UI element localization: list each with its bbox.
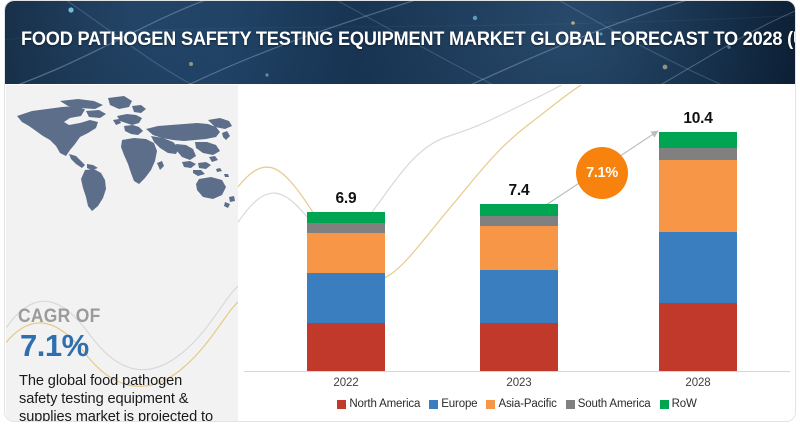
world-map-svg bbox=[10, 94, 236, 214]
legend-label-north-america: North America bbox=[349, 398, 420, 410]
bar-2023[interactable] bbox=[480, 204, 558, 371]
bar-total-2023: 7.4 bbox=[480, 182, 558, 200]
legend-label-asia-pacific: Asia-Pacific bbox=[498, 398, 556, 410]
x-tick-2023: 2023 bbox=[474, 377, 564, 389]
segment-asia-pacific-2028 bbox=[659, 160, 737, 232]
segment-row-2028 bbox=[659, 132, 737, 148]
legend-item-north-america[interactable]: North America bbox=[337, 398, 420, 410]
segment-europe-2028 bbox=[659, 232, 737, 303]
world-map-icon bbox=[10, 94, 236, 214]
bar-total-2022: 6.9 bbox=[307, 190, 385, 208]
legend-swatch-row bbox=[660, 400, 669, 409]
segment-europe-2023 bbox=[480, 270, 558, 323]
bar-total-2028: 10.4 bbox=[659, 110, 737, 128]
segment-europe-2022 bbox=[307, 273, 385, 323]
legend-swatch-south-america bbox=[566, 400, 575, 409]
legend-label-south-america: South America bbox=[578, 398, 651, 410]
infographic-root: FOOD PATHOGEN SAFETY TESTING EQUIPMENT M… bbox=[0, 0, 800, 426]
segment-south-america-2023 bbox=[480, 216, 558, 226]
segment-asia-pacific-2023 bbox=[480, 226, 558, 270]
legend-swatch-asia-pacific bbox=[486, 400, 495, 409]
segment-north-america-2028 bbox=[659, 303, 737, 371]
header-banner: FOOD PATHOGEN SAFETY TESTING EQUIPMENT M… bbox=[5, 1, 796, 84]
segment-asia-pacific-2022 bbox=[307, 233, 385, 273]
summary-sidebar: CAGR OF 7.1% The global food pathogen sa… bbox=[6, 85, 238, 422]
segment-south-america-2028 bbox=[659, 148, 737, 160]
segment-north-america-2023 bbox=[480, 323, 558, 371]
segment-row-2023 bbox=[480, 204, 558, 216]
x-tick-2022: 2022 bbox=[301, 377, 391, 389]
legend-label-row: RoW bbox=[672, 398, 697, 410]
x-tick-2028: 2028 bbox=[653, 377, 743, 389]
legend-label-europe: Europe bbox=[441, 398, 477, 410]
chart-legend: North America Europe Asia-Pacific South … bbox=[238, 398, 796, 410]
plot-area: 6.9 2022 7.4 2023 10.4 bbox=[238, 85, 796, 422]
cagr-badge[interactable]: 7.1% bbox=[576, 147, 628, 199]
legend-item-europe[interactable]: Europe bbox=[429, 398, 477, 410]
legend-item-south-america[interactable]: South America bbox=[566, 398, 651, 410]
cagr-label: CAGR OF bbox=[18, 306, 101, 328]
legend-swatch-north-america bbox=[337, 400, 346, 409]
segment-south-america-2022 bbox=[307, 223, 385, 233]
segment-row-2022 bbox=[307, 212, 385, 223]
segment-north-america-2022 bbox=[307, 323, 385, 371]
legend-swatch-europe bbox=[429, 400, 438, 409]
legend-item-row[interactable]: RoW bbox=[660, 398, 697, 410]
chart-panel: 6.9 2022 7.4 2023 10.4 bbox=[238, 85, 796, 422]
summary-description: The global food pathogen safety testing … bbox=[19, 372, 224, 422]
page-title: FOOD PATHOGEN SAFETY TESTING EQUIPMENT M… bbox=[21, 28, 796, 51]
bar-2022[interactable] bbox=[307, 212, 385, 371]
bar-2028[interactable] bbox=[659, 132, 737, 371]
cagr-badge-label: 7.1% bbox=[586, 165, 618, 181]
infographic-frame: FOOD PATHOGEN SAFETY TESTING EQUIPMENT M… bbox=[4, 0, 796, 422]
legend-item-asia-pacific[interactable]: Asia-Pacific bbox=[486, 398, 556, 410]
cagr-value: 7.1% bbox=[20, 328, 89, 364]
